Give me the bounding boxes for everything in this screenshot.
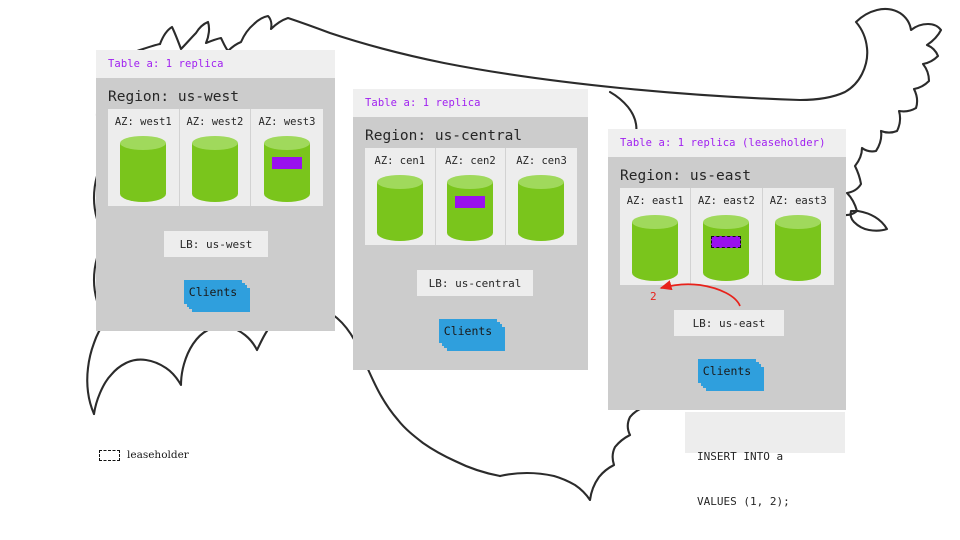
region-title: Region: us-east [608, 168, 846, 184]
az-label: AZ: east2 [698, 195, 755, 207]
panel-header-us-central: Table a: 1 replica [353, 89, 588, 117]
panel-header-us-east: Table a: 1 replica (leaseholder) [608, 129, 846, 157]
az-row: AZ: cen1 AZ: cen2 AZ: cen3 [365, 148, 577, 245]
region-panel-us-central: Table a: 1 replica Region: us-central AZ… [353, 89, 588, 370]
range-replica-chip [455, 196, 485, 208]
region-title: Region: us-west [96, 89, 335, 105]
clients-button[interactable]: Clients [698, 359, 756, 383]
clients-stack-us-central[interactable]: Clients [439, 319, 507, 351]
lb-label: LB: us-west [180, 238, 253, 251]
az-cell-cen3[interactable]: AZ: cen3 [506, 148, 577, 245]
load-balancer-us-central[interactable]: LB: us-central [417, 270, 533, 296]
az-cell-east2[interactable]: AZ: east2 [691, 188, 762, 285]
node-cylinder-west1[interactable] [120, 136, 166, 202]
table-replica-label: Table a: 1 replica [365, 97, 481, 109]
clients-stack-us-west[interactable]: Clients [184, 280, 252, 312]
sql-line-2: VALUES (1, 2); [697, 494, 845, 509]
az-cell-cen1[interactable]: AZ: cen1 [365, 148, 436, 245]
legend-label: leaseholder [127, 449, 189, 461]
clients-button[interactable]: Clients [184, 280, 242, 304]
node-cylinder-east2[interactable] [703, 215, 749, 281]
clients-stack-us-east[interactable]: Clients [698, 359, 766, 391]
clients-label: Clients [703, 364, 751, 378]
az-cell-east1[interactable]: AZ: east1 [620, 188, 691, 285]
load-balancer-us-west[interactable]: LB: us-west [164, 231, 268, 257]
sql-statement-note: INSERT INTO a VALUES (1, 2); [685, 412, 845, 453]
node-cylinder-cen2[interactable] [447, 175, 493, 241]
node-cylinder-east1[interactable] [632, 215, 678, 281]
region-title: Region: us-central [353, 128, 588, 144]
range-replica-chip [272, 157, 302, 169]
table-replica-label: Table a: 1 replica [108, 58, 224, 70]
lb-label: LB: us-east [693, 317, 766, 330]
table-replica-label: Table a: 1 replica (leaseholder) [620, 137, 826, 149]
clients-label: Clients [189, 285, 237, 299]
az-cell-cen2[interactable]: AZ: cen2 [436, 148, 507, 245]
az-cell-west1[interactable]: AZ: west1 [108, 109, 180, 206]
az-label: AZ: east1 [627, 195, 684, 207]
az-cell-west3[interactable]: AZ: west3 [251, 109, 323, 206]
az-cell-east3[interactable]: AZ: east3 [763, 188, 834, 285]
az-label: AZ: cen2 [445, 155, 496, 167]
az-label: AZ: west2 [186, 116, 243, 128]
az-cell-west2[interactable]: AZ: west2 [180, 109, 252, 206]
az-label: AZ: cen1 [375, 155, 426, 167]
clients-label: Clients [444, 324, 492, 338]
diagram-canvas: Table a: 1 replica Region: us-west AZ: w… [0, 0, 960, 540]
node-cylinder-west2[interactable] [192, 136, 238, 202]
region-panel-us-east: Table a: 1 replica (leaseholder) Region:… [608, 129, 846, 410]
legend: leaseholder [99, 449, 189, 461]
node-cylinder-cen3[interactable] [518, 175, 564, 241]
node-cylinder-east3[interactable] [775, 215, 821, 281]
az-label: AZ: west3 [259, 116, 316, 128]
sql-line-1: INSERT INTO a [697, 449, 845, 464]
step-number-label: 2 [650, 290, 657, 303]
panel-header-us-west: Table a: 1 replica [96, 50, 335, 78]
load-balancer-us-east[interactable]: LB: us-east [674, 310, 784, 336]
node-cylinder-west3[interactable] [264, 136, 310, 202]
range-replica-chip-leaseholder [711, 236, 741, 248]
az-label: AZ: west1 [115, 116, 172, 128]
lb-label: LB: us-central [429, 277, 522, 290]
az-row: AZ: east1 AZ: east2 AZ: east3 [620, 188, 834, 285]
region-panel-us-west: Table a: 1 replica Region: us-west AZ: w… [96, 50, 335, 331]
dashed-rect-icon [99, 450, 120, 461]
az-label: AZ: east3 [770, 195, 827, 207]
node-cylinder-cen1[interactable] [377, 175, 423, 241]
az-row: AZ: west1 AZ: west2 AZ: west3 [108, 109, 323, 206]
az-label: AZ: cen3 [516, 155, 567, 167]
clients-button[interactable]: Clients [439, 319, 497, 343]
